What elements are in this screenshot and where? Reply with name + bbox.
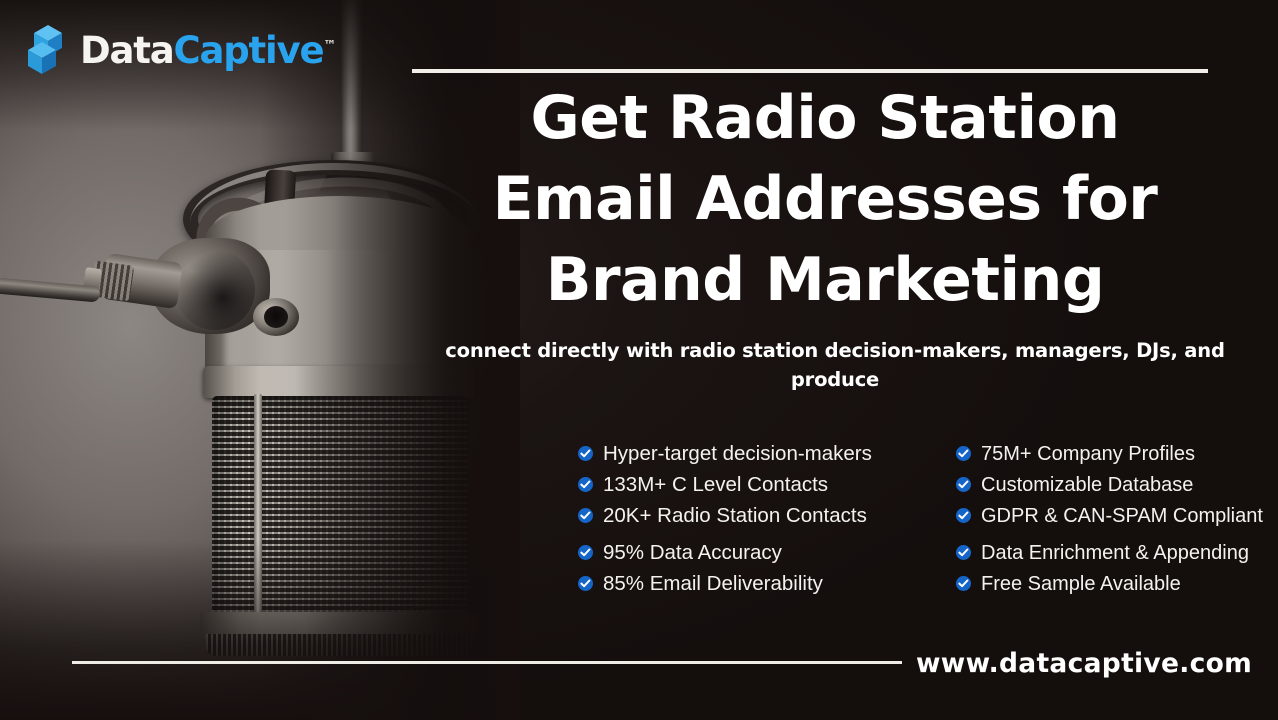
check-circle-icon bbox=[578, 545, 593, 560]
list-item: 20K+ Radio Station Contacts bbox=[578, 500, 918, 531]
feature-label: Hyper-target decision-makers bbox=[603, 443, 872, 465]
headline-top-rule bbox=[412, 69, 1208, 73]
feature-label: 95% Data Accuracy bbox=[603, 542, 782, 564]
feature-label: 75M+ Company Profiles bbox=[981, 443, 1195, 465]
feature-lists: Hyper-target decision-makers 133M+ C Lev… bbox=[578, 438, 1278, 599]
subheadline: connect directly with radio station deci… bbox=[440, 336, 1230, 394]
check-circle-icon bbox=[956, 576, 971, 591]
datacaptive-cube-logo-icon bbox=[24, 24, 70, 76]
check-circle-icon bbox=[956, 508, 971, 523]
list-item: Data Enrichment & Appending bbox=[956, 537, 1276, 568]
feature-label: 133M+ C Level Contacts bbox=[603, 474, 828, 496]
list-item: 85% Email Deliverability bbox=[578, 568, 918, 599]
list-item: GDPR & CAN-SPAM Compliant bbox=[956, 500, 1276, 531]
list-item: 95% Data Accuracy bbox=[578, 537, 918, 568]
feature-label: Free Sample Available bbox=[981, 573, 1181, 595]
brand-name-data: Data bbox=[80, 29, 174, 72]
check-circle-icon bbox=[578, 477, 593, 492]
feature-list-right: 75M+ Company Profiles Customizable Datab… bbox=[956, 438, 1276, 599]
feature-list-left: Hyper-target decision-makers 133M+ C Lev… bbox=[578, 438, 918, 599]
feature-label: 85% Email Deliverability bbox=[603, 573, 823, 595]
check-circle-icon bbox=[578, 576, 593, 591]
trademark-symbol: ™ bbox=[323, 38, 336, 53]
check-circle-icon bbox=[956, 545, 971, 560]
check-circle-icon bbox=[956, 446, 971, 461]
feature-label: Customizable Database bbox=[981, 474, 1193, 496]
list-item: 133M+ C Level Contacts bbox=[578, 469, 918, 500]
feature-label: Data Enrichment & Appending bbox=[981, 542, 1249, 564]
brand-name-captive: Captive bbox=[174, 29, 324, 72]
list-item: 75M+ Company Profiles bbox=[956, 438, 1276, 469]
brand-wordmark: DataCaptive™ bbox=[80, 29, 336, 72]
brand-logo[interactable]: DataCaptive™ bbox=[24, 24, 336, 76]
website-url[interactable]: www.datacaptive.com bbox=[916, 648, 1252, 679]
page-title: Get Radio Station Email Addresses for Br… bbox=[430, 78, 1220, 321]
promo-banner: DataCaptive™ Get Radio Station Email Add… bbox=[0, 0, 1278, 720]
check-circle-icon bbox=[578, 508, 593, 523]
check-circle-icon bbox=[578, 446, 593, 461]
list-item: Free Sample Available bbox=[956, 568, 1276, 599]
boom-knuckle-shadow bbox=[175, 250, 255, 330]
list-item: Hyper-target decision-makers bbox=[578, 438, 918, 469]
list-item: Customizable Database bbox=[956, 469, 1276, 500]
feature-label: GDPR & CAN-SPAM Compliant bbox=[981, 505, 1263, 527]
feature-label: 20K+ Radio Station Contacts bbox=[603, 505, 867, 527]
check-circle-icon bbox=[956, 477, 971, 492]
footer-rule bbox=[72, 661, 902, 664]
